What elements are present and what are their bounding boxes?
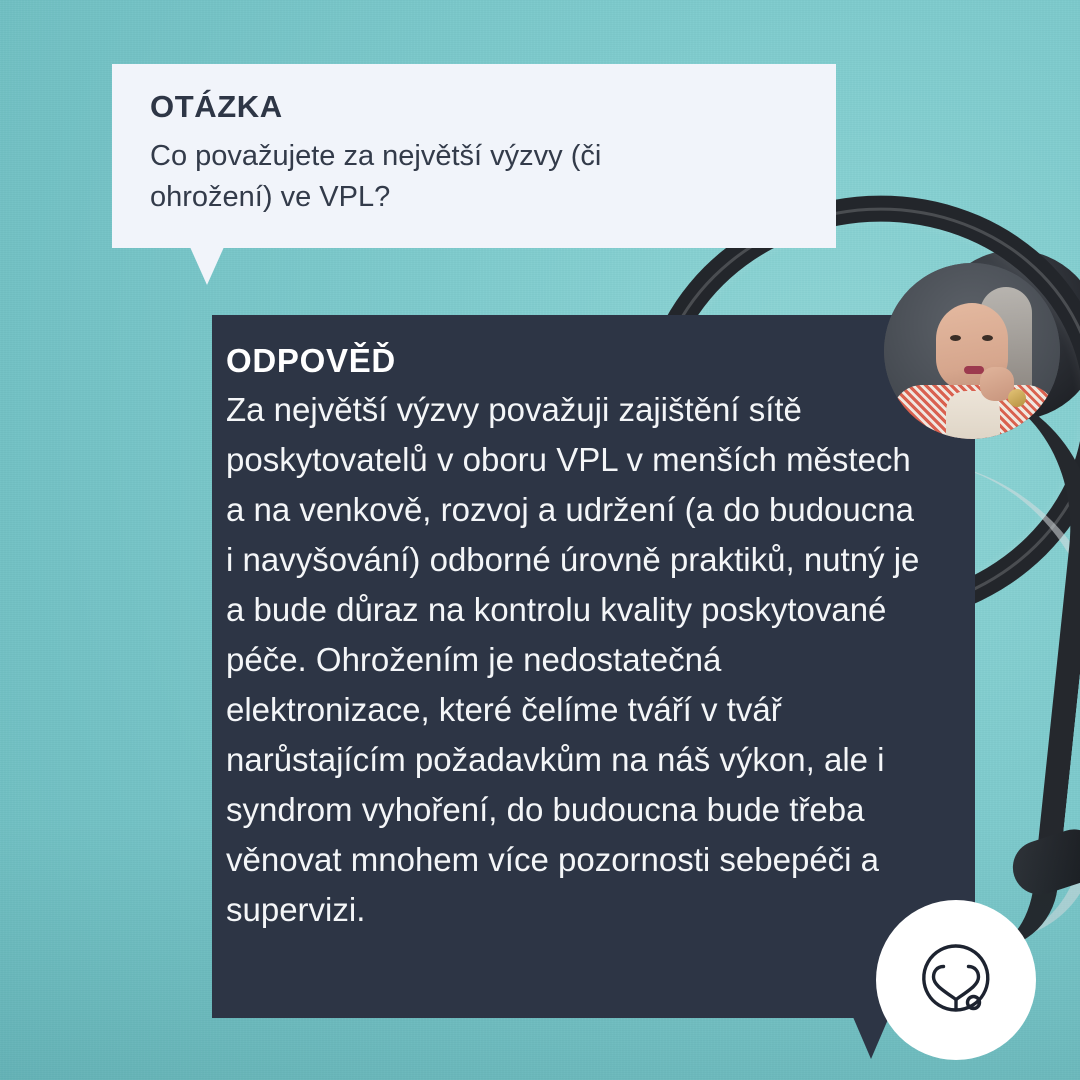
avatar [884,263,1060,439]
social-post-canvas: OTÁZKA Co považujete za největší výzvy (… [0,0,1080,1080]
answer-text: Za největší výzvy považuji zajištění sít… [226,385,926,935]
question-bubble: OTÁZKA Co považujete za největší výzvy (… [112,64,836,248]
answer-card: ODPOVĚĎ Za největší výzvy považuji zajiš… [212,315,975,1018]
question-text: Co považujete za největší výzvy (či ohro… [150,136,710,218]
logo-badge [876,900,1036,1060]
question-label: OTÁZKA [150,90,802,124]
question-bubble-tail [190,247,224,285]
avatar-eye-right [982,335,993,341]
answer-label: ODPOVĚĎ [226,341,935,381]
answer-content: ODPOVĚĎ Za největší výzvy považuji zajiš… [226,341,935,935]
stethoscope-heart-icon [912,936,1000,1024]
answer-card-tail [853,1017,889,1059]
avatar-watch [1008,389,1026,407]
avatar-eye-left [950,335,961,341]
